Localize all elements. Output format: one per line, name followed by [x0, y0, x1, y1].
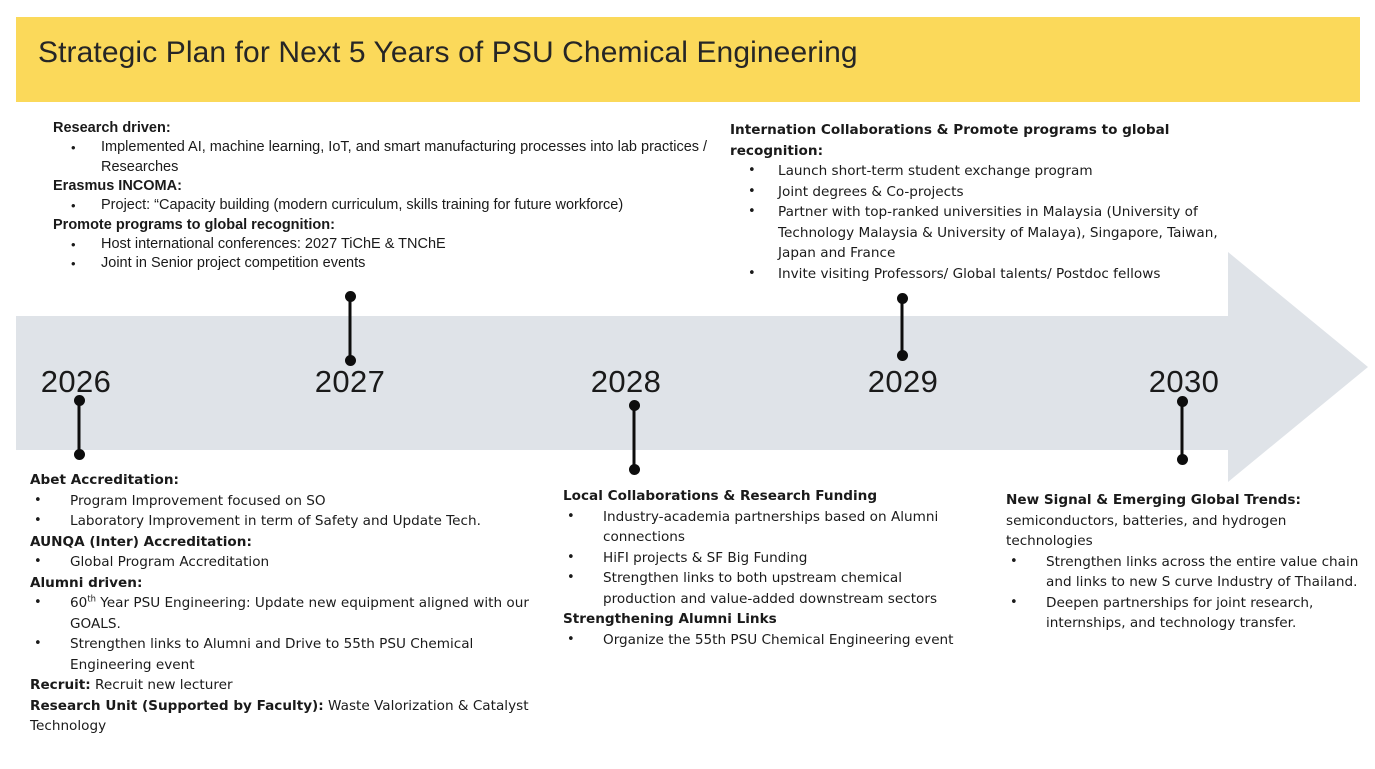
connector-2026 — [78, 400, 81, 455]
bullet-icon: • — [34, 634, 42, 654]
bullet-icon: • — [1010, 552, 1018, 572]
page-title: Strategic Plan for Next 5 Years of PSU C… — [38, 36, 858, 70]
section-heading: Research driven: — [53, 119, 713, 138]
section-heading: Research Unit (Supported by Faculty): Wa… — [30, 696, 540, 737]
list-item-text: Partner with top-ranked universities in … — [778, 202, 1230, 264]
item-prefix: 60 — [70, 595, 87, 611]
list-item: •Implemented AI, machine learning, IoT, … — [53, 138, 713, 177]
bullet-icon: • — [1010, 593, 1018, 613]
list-item: •Strengthen links to both upstream chemi… — [563, 568, 963, 609]
bullet-icon: • — [34, 593, 42, 613]
bullet-icon: • — [34, 511, 42, 531]
list-item-text: Launch short-term student exchange progr… — [778, 161, 1230, 182]
bullet-icon: • — [567, 568, 575, 588]
list-item: •HiFI projects & SF Big Funding — [563, 548, 963, 569]
connector-2029 — [901, 298, 904, 356]
list-item: •Program Improvement focused on SO — [30, 491, 540, 512]
connector-2027 — [349, 296, 352, 361]
section-list: •Strengthen links across the entire valu… — [1006, 552, 1361, 634]
list-item: •Launch short-term student exchange prog… — [730, 161, 1230, 182]
list-item: •Joint in Senior project competition eve… — [53, 254, 713, 274]
heading-bold-part: New Signal & Emerging Global Trends: — [1006, 492, 1301, 508]
bullet-icon: • — [34, 552, 42, 572]
list-item-text: Joint degrees & Co-projects — [778, 182, 1230, 203]
heading-bold-part: Research Unit (Supported by Faculty): — [30, 698, 324, 714]
list-item-text: Host international conferences: 2027 TiC… — [101, 235, 713, 255]
list-item: •Project: “Capacity building (modern cur… — [53, 196, 713, 216]
list-item-text: Joint in Senior project competition even… — [101, 254, 713, 274]
connector-2030 — [1181, 401, 1184, 460]
list-item: •Host international conferences: 2027 Ti… — [53, 235, 713, 255]
list-item: • Organize the 55th PSU Chemical Enginee… — [563, 630, 963, 651]
bullet-icon: • — [71, 196, 76, 216]
title-banner: Strategic Plan for Next 5 Years of PSU C… — [16, 17, 1360, 102]
section-heading: Promote programs to global recognition: — [53, 216, 713, 235]
heading-normal-part: Recruit new lecturer — [91, 677, 233, 693]
section-list: • Organize the 55th PSU Chemical Enginee… — [563, 630, 963, 651]
heading-bold-part: Recruit: — [30, 677, 91, 693]
list-item-text: Invite visiting Professors/ Global talen… — [778, 264, 1230, 285]
section-list: •Global Program Accreditation — [30, 552, 540, 573]
section-list: •Launch short-term student exchange prog… — [730, 161, 1230, 284]
list-item-text: Project: “Capacity building (modern curr… — [101, 196, 713, 216]
section-heading: New Signal & Emerging Global Trends: sem… — [1006, 490, 1361, 552]
list-item: •Joint degrees & Co-projects — [730, 182, 1230, 203]
bullet-icon: • — [748, 161, 756, 181]
bullet-icon: • — [567, 630, 575, 650]
list-item: • Strengthen links to Alumni and Drive t… — [30, 634, 540, 675]
content-block-2030-bottom: New Signal & Emerging Global Trends: sem… — [1006, 490, 1361, 634]
item-body: Year PSU Engineering: Update new equipme… — [70, 595, 529, 632]
list-item: •Strengthen links across the entire valu… — [1006, 552, 1361, 593]
section-list: •Host international conferences: 2027 Ti… — [53, 235, 713, 274]
section-list: •Project: “Capacity building (modern cur… — [53, 196, 713, 216]
content-block-2028-bottom: Local Collaborations & Research Funding … — [563, 486, 963, 650]
bullet-icon: • — [34, 491, 42, 511]
section-heading: Erasmus INCOMA: — [53, 177, 713, 196]
list-item: •Invite visiting Professors/ Global tale… — [730, 264, 1230, 285]
list-item: •Global Program Accreditation — [30, 552, 540, 573]
list-item: •Industry-academia partnerships based on… — [563, 507, 963, 548]
ordinal-suffix: th — [87, 593, 96, 603]
bullet-icon: • — [71, 138, 76, 158]
content-block-2029-top: Internation Collaborations & Promote pro… — [730, 120, 1230, 284]
timeline-year-2030[interactable]: 2030 — [1149, 364, 1220, 400]
list-item: •Deepen partnerships for joint research,… — [1006, 593, 1361, 634]
timeline-year-2029[interactable]: 2029 — [868, 364, 939, 400]
section-heading: AUNQA (Inter) Accreditation: — [30, 532, 540, 553]
bullet-icon: • — [748, 202, 756, 222]
bullet-icon: • — [71, 254, 76, 274]
list-item-text: Organize the 55th PSU Chemical Engineeri… — [603, 630, 963, 651]
content-block-2026-bottom: Abet Accreditation: •Program Improvement… — [30, 470, 540, 737]
list-item-text: Deepen partnerships for joint research, … — [1046, 593, 1361, 634]
list-item-text: Strengthen links across the entire value… — [1046, 552, 1361, 593]
section-heading: Alumni driven: — [30, 573, 540, 594]
section-list: •Program Improvement focused on SO •Labo… — [30, 491, 540, 532]
list-item-text: Industry-academia partnerships based on … — [603, 507, 963, 548]
list-item-text: Implemented AI, machine learning, IoT, a… — [101, 138, 713, 177]
timeline-year-2027[interactable]: 2027 — [315, 364, 386, 400]
list-item-text: Strengthen links to both upstream chemic… — [603, 568, 963, 609]
bullet-icon: • — [748, 182, 756, 202]
connector-2028 — [633, 405, 636, 470]
list-item-text: Global Program Accreditation — [70, 552, 540, 573]
section-heading: Local Collaborations & Research Funding — [563, 486, 963, 507]
slide-canvas: Strategic Plan for Next 5 Years of PSU C… — [0, 0, 1375, 769]
timeline-year-2028[interactable]: 2028 — [591, 364, 662, 400]
timeline-arrow-head — [1228, 252, 1368, 482]
list-item-text: HiFI projects & SF Big Funding — [603, 548, 963, 569]
bullet-icon: • — [567, 507, 575, 527]
bullet-icon: • — [567, 548, 575, 568]
list-item-text: Program Improvement focused on SO — [70, 491, 540, 512]
section-heading: Strengthening Alumni Links — [563, 609, 963, 630]
section-heading: Internation Collaborations & Promote pro… — [730, 120, 1230, 161]
bullet-icon: • — [748, 264, 756, 284]
heading-normal-part: semiconductors, batteries, and hydrogen … — [1006, 513, 1286, 550]
section-list: •Implemented AI, machine learning, IoT, … — [53, 138, 713, 177]
list-item: •Partner with top-ranked universities in… — [730, 202, 1230, 264]
list-item: •Laboratory Improvement in term of Safet… — [30, 511, 540, 532]
section-heading: Recruit: Recruit new lecturer — [30, 675, 540, 696]
list-item: • 60th Year PSU Engineering: Update new … — [30, 593, 540, 634]
section-list: • 60th Year PSU Engineering: Update new … — [30, 593, 540, 675]
list-item-text: Laboratory Improvement in term of Safety… — [70, 511, 540, 532]
content-block-2026-top: Research driven: •Implemented AI, machin… — [53, 119, 713, 274]
bullet-icon: • — [71, 235, 76, 255]
list-item-text: Strengthen links to Alumni and Drive to … — [70, 634, 540, 675]
section-heading: Abet Accreditation: — [30, 470, 540, 491]
section-list: •Industry-academia partnerships based on… — [563, 507, 963, 610]
list-item-text: 60th Year PSU Engineering: Update new eq… — [70, 593, 540, 634]
